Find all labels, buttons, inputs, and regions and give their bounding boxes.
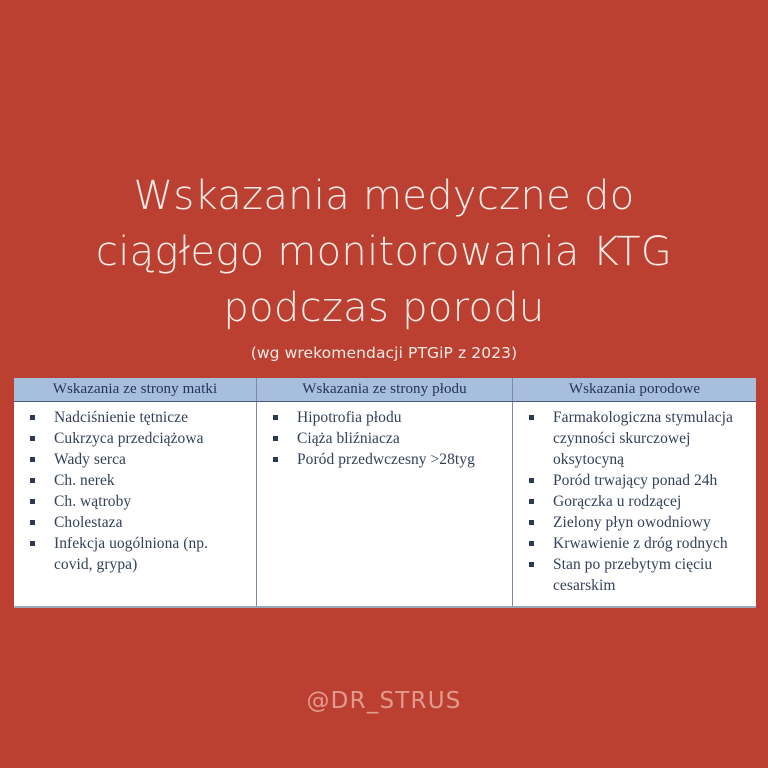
page-title-line-1: Wskazania medyczne do [0,168,768,224]
list-item: Cukrzyca przedciążowa [20,428,250,449]
list-item: Poród przedwczesny >28tyg [263,449,506,470]
page-title-line-2: ciągłego monitorowania KTG [0,224,768,280]
list-item: Krwawienie z dróg rodnych [519,533,750,554]
list-item: Ciąża bliźniacza [263,428,506,449]
table-header-row: Wskazania ze strony matki Wskazania ze s… [14,378,756,402]
table-cell-fetal: Hipotrofia płodu Ciąża bliźniacza Poród … [256,402,513,606]
table-cell-maternal: Nadciśnienie tętnicze Cukrzyca przedciąż… [14,402,256,606]
list-item: Stan po przebytym cięciu cesarskim [519,554,750,596]
list-item: Ch. nerek [20,470,250,491]
list-item: Cholestaza [20,512,250,533]
infographic-slide: Wskazania medyczne do ciągłego monitorow… [0,0,768,768]
list-item: Poród trwający ponad 24h [519,470,750,491]
column-header-maternal: Wskazania ze strony matki [14,378,256,401]
column-header-labor: Wskazania porodowe [513,378,756,401]
list-item: Hipotrofia płodu [263,407,506,428]
list-maternal-indications: Nadciśnienie tętnicze Cukrzyca przedciąż… [20,407,250,575]
list-item: Farmakologiczna stymulacja czynności sku… [519,407,750,470]
indications-table: Wskazania ze strony matki Wskazania ze s… [14,378,756,608]
table-cell-labor: Farmakologiczna stymulacja czynności sku… [513,402,756,606]
list-labor-indications: Farmakologiczna stymulacja czynności sku… [519,407,750,596]
list-item: Zielony płyn owodniowy [519,512,750,533]
page-title-line-3: podczas porodu [0,280,768,336]
title-block: Wskazania medyczne do ciągłego monitorow… [0,168,768,363]
page-subtitle: (wg wrekomendacji PTGiP z 2023) [0,343,768,363]
list-item: Gorączka u rodzącej [519,491,750,512]
list-item: Infekcja uogólniona (np. covid, grypa) [20,533,250,575]
list-item: Ch. wątroby [20,491,250,512]
author-watermark: @DR_STRUS [0,688,768,714]
table-body-row: Nadciśnienie tętnicze Cukrzyca przedciąż… [14,402,756,608]
column-header-fetal: Wskazania ze strony płodu [256,378,513,401]
list-item: Wady serca [20,449,250,470]
list-fetal-indications: Hipotrofia płodu Ciąża bliźniacza Poród … [263,407,506,470]
list-item: Nadciśnienie tętnicze [20,407,250,428]
